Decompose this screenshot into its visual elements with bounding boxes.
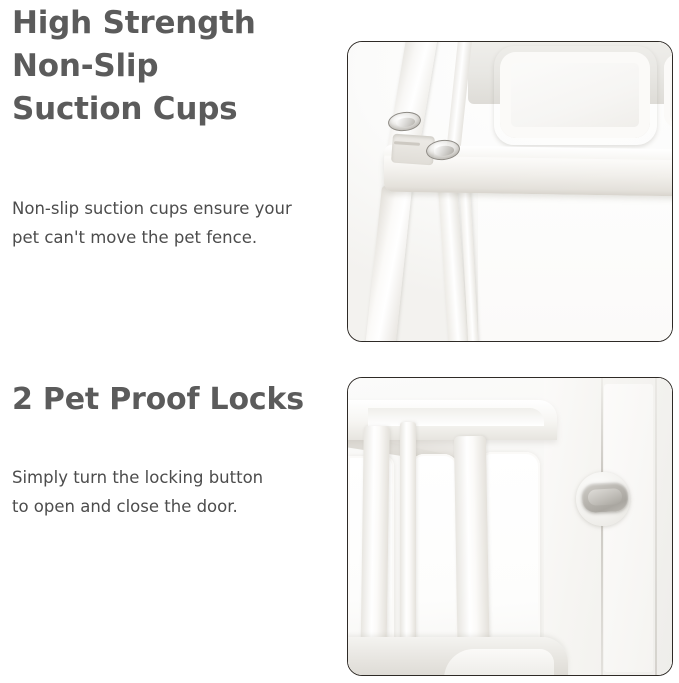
section-pet-proof-locks-text: 2 Pet Proof Locks Simply turn the lockin…	[12, 378, 342, 521]
fence-bottom-rail-secondary	[444, 649, 554, 675]
section-pet-proof-locks-body: Simply turn the locking button to open a…	[12, 463, 342, 521]
section-suction-cups-text: High Strength Non-Slip Suction Cups Non-…	[12, 2, 342, 252]
door-lock-photo-content	[348, 378, 672, 675]
fence-pane-middle	[410, 454, 458, 660]
suction-cup-closeup-photo	[347, 41, 673, 342]
door-seam-left	[601, 378, 603, 675]
section-suction-cups-heading: High Strength Non-Slip Suction Cups	[12, 2, 342, 131]
lock-knob-icon	[581, 482, 628, 513]
suction-cup-photo-content	[348, 42, 672, 341]
fence-window-opening-right	[664, 54, 672, 128]
fence-door-inner-panel	[604, 384, 653, 672]
fence-window-opening	[500, 52, 650, 138]
section-suction-cups-body: Non-slip suction cups ensure your pet ca…	[12, 194, 342, 252]
door-lock-closeup-photo	[347, 377, 673, 676]
photo-lower-background	[478, 192, 672, 341]
door-seam-right	[655, 378, 657, 675]
section-pet-proof-locks-heading: 2 Pet Proof Locks	[12, 378, 342, 421]
fence-top-rail-inner	[368, 408, 544, 426]
infographic-page: High Strength Non-Slip Suction Cups Non-…	[0, 0, 679, 683]
